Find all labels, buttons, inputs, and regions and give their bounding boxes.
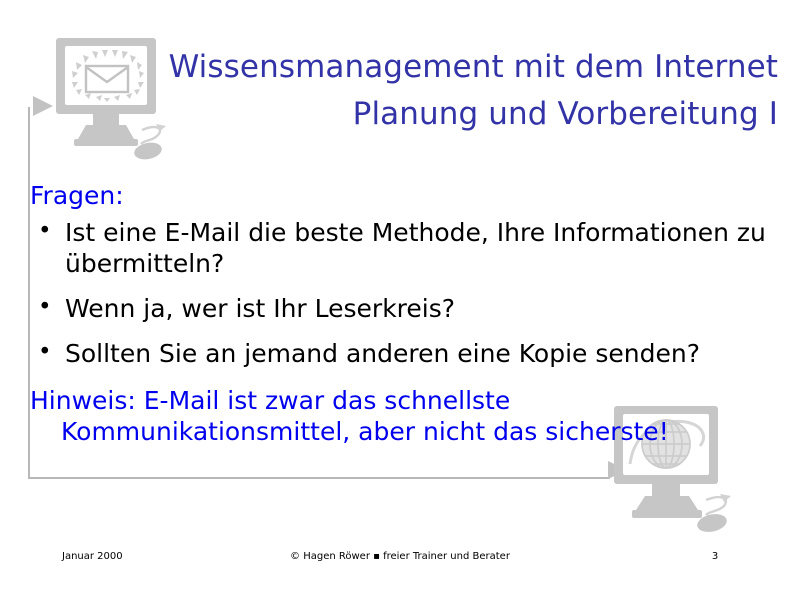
page-title: Wissensmanagement mit dem Internet Planu… [150,44,778,138]
slide-footer: Januar 2000 © Hagen Röwer ▪ freier Train… [0,551,800,571]
list-item: Wenn ja, wer ist Ihr Leserkreis? [30,293,780,324]
note-line-1: Hinweis: E-Mail ist zwar das schnellste [30,385,780,416]
list-item: Ist eine E-Mail die beste Methode, Ihre … [30,217,780,279]
bullet-list: Ist eine E-Mail die beste Methode, Ihre … [30,217,780,369]
title-line-1: Wissensmanagement mit dem Internet [150,44,778,91]
list-item: Sollten Sie an jemand anderen eine Kopie… [30,338,780,369]
note-line-2: Kommunikationsmittel, aber nicht das sic… [30,416,780,447]
lead-label: Fragen: [30,180,780,212]
footer-credit: © Hagen Röwer ▪ freier Trainer und Berat… [0,551,800,562]
slide-canvas: Wissensmanagement mit dem Internet Planu… [0,0,800,600]
title-line-2: Planung und Vorbereitung I [150,91,778,138]
footer-page-number: 3 [700,551,730,562]
slide-body: Fragen: Ist eine E-Mail die beste Method… [30,180,780,447]
note-block: Hinweis: E-Mail ist zwar das schnellste … [30,385,780,447]
frame-horizontal-line [28,477,610,479]
